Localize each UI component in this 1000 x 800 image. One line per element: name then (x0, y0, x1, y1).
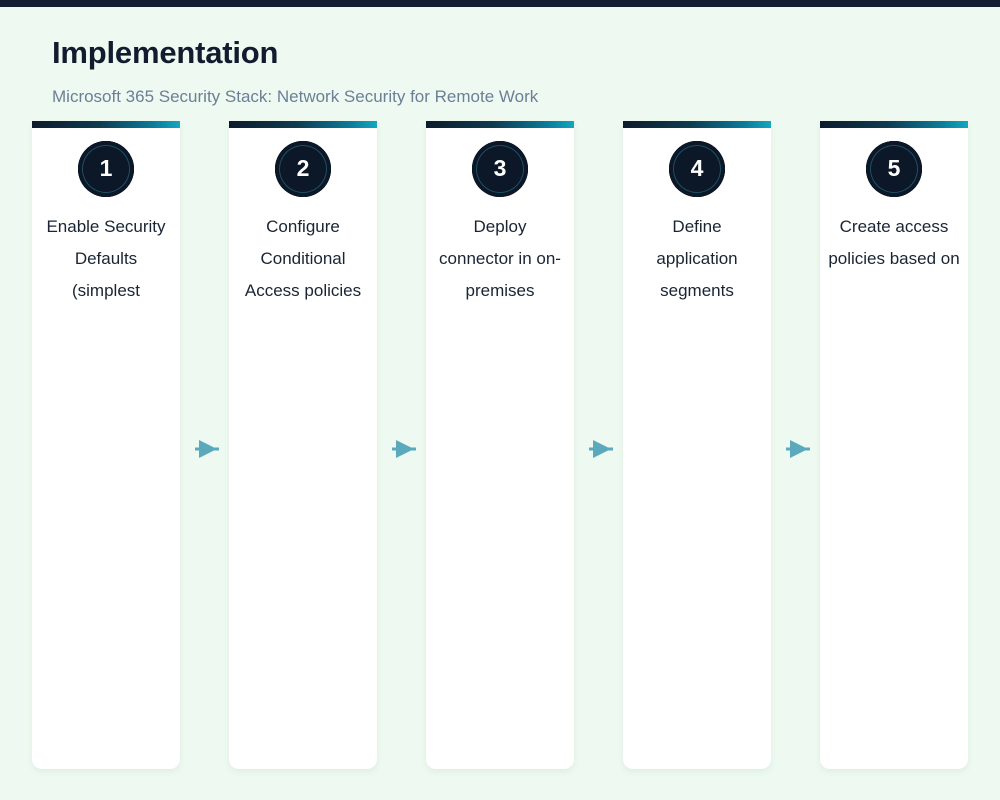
step-text-3: Deploy connector in on-premises (434, 211, 566, 307)
step-card-1[interactable]: 1 Enable Security Defaults (simplest (32, 121, 180, 769)
step-number-4: 4 (691, 157, 704, 180)
step-text-1: Enable Security Defaults (simplest (40, 211, 172, 307)
step-card-accent-5 (820, 121, 968, 128)
step-card-accent-2 (229, 121, 377, 128)
step-number-2: 2 (297, 157, 310, 180)
step-text-2: Configure Conditional Access policies (237, 211, 369, 307)
step-badge-3: 3 (472, 141, 528, 197)
arrow-right-icon-1 (193, 437, 221, 461)
steps-row: 1 Enable Security Defaults (simplest 2 C… (32, 121, 968, 769)
top-accent-bar (0, 0, 1000, 7)
step-badge-1: 1 (78, 141, 134, 197)
step-number-1: 1 (100, 157, 113, 180)
arrow-right-icon-4 (784, 437, 812, 461)
step-badge-2: 2 (275, 141, 331, 197)
step-card-accent-1 (32, 121, 180, 128)
arrow-right-icon-3 (587, 437, 615, 461)
step-badge-4: 4 (669, 141, 725, 197)
step-card-3[interactable]: 3 Deploy connector in on-premises (426, 121, 574, 769)
step-card-accent-4 (623, 121, 771, 128)
step-card-4[interactable]: 4 Define application segments (623, 121, 771, 769)
arrow-right-icon-2 (390, 437, 418, 461)
page-subtitle: Microsoft 365 Security Stack: Network Se… (52, 86, 952, 108)
step-badge-5: 5 (866, 141, 922, 197)
page-title: Implementation (52, 33, 952, 73)
step-number-5: 5 (888, 157, 901, 180)
step-card-5[interactable]: 5 Create access policies based on (820, 121, 968, 769)
step-card-2[interactable]: 2 Configure Conditional Access policies (229, 121, 377, 769)
step-text-5: Create access policies based on (828, 211, 960, 275)
header: Implementation Microsoft 365 Security St… (52, 33, 952, 108)
step-card-accent-3 (426, 121, 574, 128)
step-number-3: 3 (494, 157, 507, 180)
step-text-4: Define application segments (631, 211, 763, 307)
